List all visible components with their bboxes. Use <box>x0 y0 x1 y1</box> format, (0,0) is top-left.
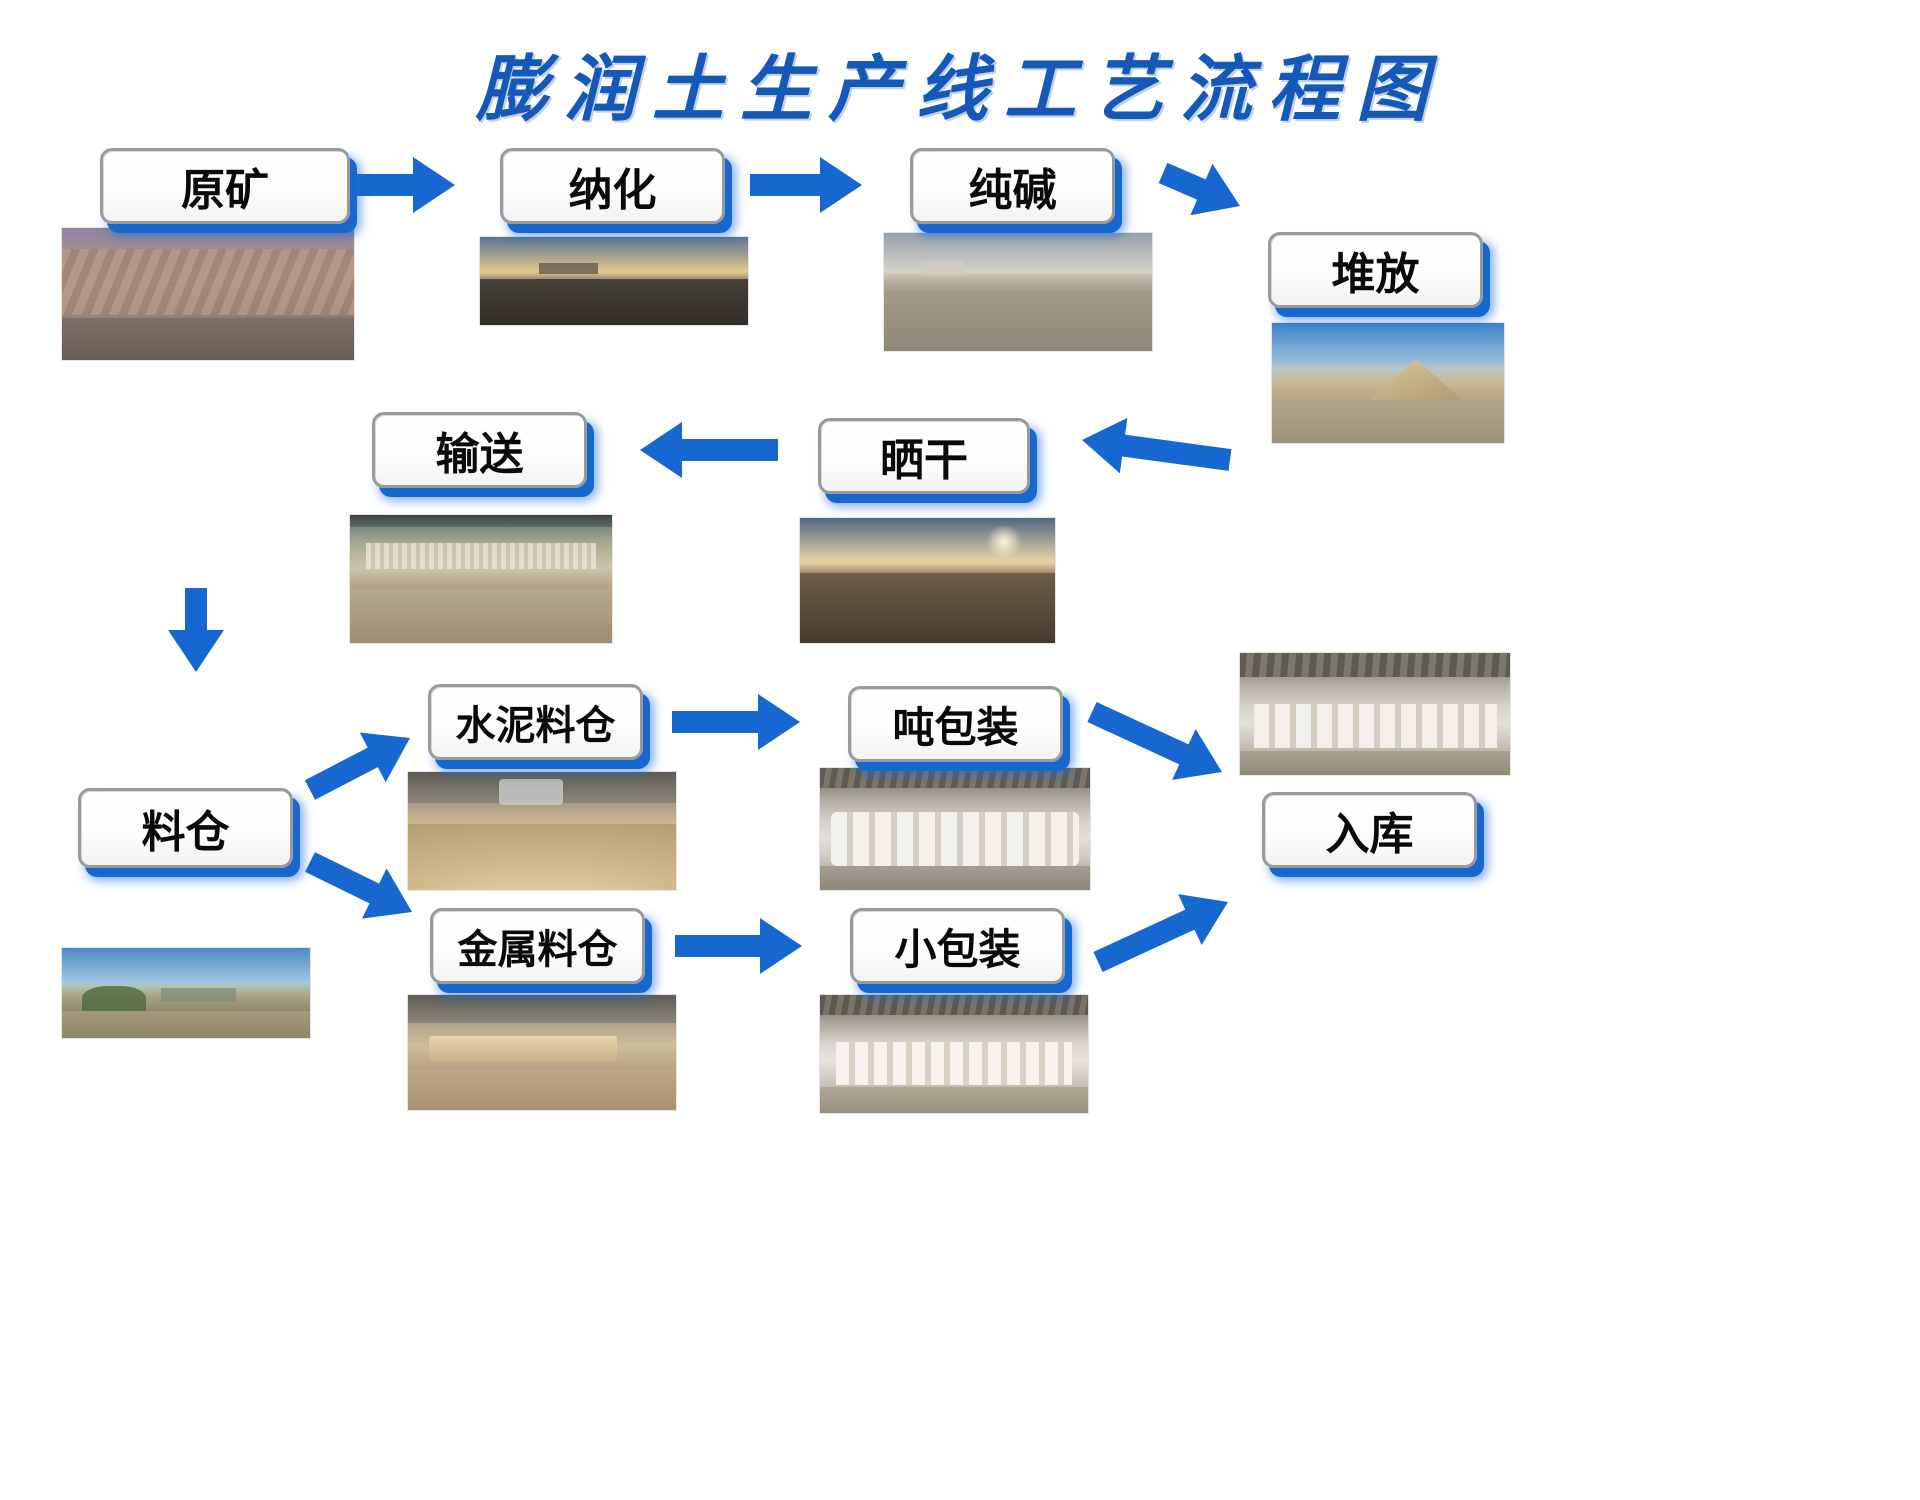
photo-warehousing-detail <box>1240 751 1510 775</box>
photo-cement-silo-detail <box>499 779 563 805</box>
process-box-ton-packing[interactable]: 吨包装 <box>848 686 1063 762</box>
arrow-silo-to-metal-silo <box>298 837 425 937</box>
photo-small-packing-detail <box>820 1087 1088 1113</box>
photo-cement-silo <box>408 772 676 890</box>
process-box-cement-silo[interactable]: 水泥料仓 <box>428 684 643 760</box>
arrow-small-to-warehousing <box>1086 877 1239 988</box>
photo-metal-silo-detail <box>429 1036 617 1061</box>
photo-ton-packing-detail <box>820 866 1090 890</box>
process-box-label: 纳化 <box>569 154 657 218</box>
photo-metal-silo-detail <box>408 1069 676 1110</box>
process-box-soda-ash[interactable]: 纯碱 <box>910 148 1115 224</box>
process-box-label: 吨包装 <box>892 694 1018 755</box>
process-box-conveying[interactable]: 输送 <box>372 412 587 488</box>
photo-stacking-detail <box>1369 359 1462 400</box>
photo-sodium <box>480 237 748 325</box>
process-box-label: 晒干 <box>880 424 968 488</box>
photo-raw-ore-detail <box>62 249 354 315</box>
process-box-label: 纯碱 <box>969 154 1057 218</box>
photo-metal-silo-detail <box>408 995 676 1023</box>
photo-sodium-detail <box>539 263 598 274</box>
photo-conveying-detail <box>350 589 612 643</box>
photo-silo-detail <box>62 948 310 984</box>
process-box-stacking[interactable]: 堆放 <box>1268 232 1483 308</box>
photo-raw-ore <box>62 228 354 360</box>
photo-ton-packing-detail <box>831 812 1079 866</box>
photo-soda-ash-detail <box>884 290 1152 351</box>
process-box-sodium[interactable]: 纳化 <box>500 148 725 224</box>
photo-conveying-detail <box>366 543 597 569</box>
photo-stacking-detail <box>1272 323 1504 364</box>
photo-conveying <box>350 515 612 643</box>
process-box-label: 堆放 <box>1332 238 1420 302</box>
process-box-label: 输送 <box>436 418 524 482</box>
photo-conveying-detail <box>350 515 612 527</box>
process-box-label: 原矿 <box>181 154 269 218</box>
arrow-ore-to-sodium <box>345 157 455 213</box>
photo-silo <box>62 948 310 1038</box>
photo-sodium-detail <box>480 279 748 325</box>
photo-small-packing <box>820 995 1088 1113</box>
process-box-metal-silo[interactable]: 金属料仓 <box>430 908 645 984</box>
process-box-warehousing[interactable]: 入库 <box>1262 792 1477 868</box>
photo-raw-ore-detail <box>62 318 354 360</box>
photo-metal-silo <box>408 995 676 1110</box>
photo-warehousing-detail <box>1254 704 1497 748</box>
arrow-soda-to-stacking <box>1152 147 1251 231</box>
photo-ton-packing-detail <box>820 768 1090 788</box>
arrow-stacking-to-drying <box>1078 412 1233 487</box>
arrow-conveying-to-silo <box>168 588 224 672</box>
arrow-cement-to-ton <box>672 694 800 750</box>
process-box-label: 金属料仓 <box>458 917 618 975</box>
arrow-ton-to-warehousing <box>1080 687 1233 798</box>
photo-stacking <box>1272 323 1504 443</box>
photo-stacking-detail <box>1272 400 1504 443</box>
process-box-small-packing[interactable]: 小包装 <box>850 908 1065 984</box>
page-title: 膨润土生产线工艺流程图 <box>0 30 1920 135</box>
photo-sun-drying-detail <box>800 573 1055 643</box>
arrow-drying-to-conveying <box>640 422 778 478</box>
photo-warehousing-detail <box>1240 653 1510 677</box>
photo-small-packing-detail <box>836 1042 1072 1084</box>
photo-silo-detail <box>62 1011 310 1038</box>
arrow-metal-to-small <box>675 918 802 974</box>
flowchart-canvas: 膨润土生产线工艺流程图 原矿纳化纯碱堆放晒干输送料仓水泥料仓金属料仓吨包装小包装… <box>0 0 1920 1500</box>
photo-silo-detail <box>161 988 235 1002</box>
photo-sun-drying <box>800 518 1055 643</box>
process-box-label: 小包装 <box>894 916 1020 977</box>
process-box-sun-drying[interactable]: 晒干 <box>818 418 1030 494</box>
photo-sodium-detail <box>480 237 748 272</box>
arrow-silo-to-cement-silo <box>297 713 423 815</box>
photo-ton-packing <box>820 768 1090 890</box>
photo-cement-silo-detail <box>408 824 676 890</box>
photo-warehousing <box>1240 653 1510 775</box>
arrow-sodium-to-soda <box>750 157 862 213</box>
photo-small-packing-detail <box>820 995 1088 1015</box>
photo-soda-ash-detail <box>922 261 965 275</box>
photo-soda-ash <box>884 233 1152 351</box>
photo-sun-drying-detail <box>984 526 1025 559</box>
process-box-label: 入库 <box>1326 798 1414 862</box>
process-box-label: 水泥料仓 <box>456 693 616 751</box>
process-box-silo[interactable]: 料仓 <box>78 788 293 868</box>
process-box-raw-ore[interactable]: 原矿 <box>100 148 350 224</box>
process-box-label: 料仓 <box>142 796 230 860</box>
